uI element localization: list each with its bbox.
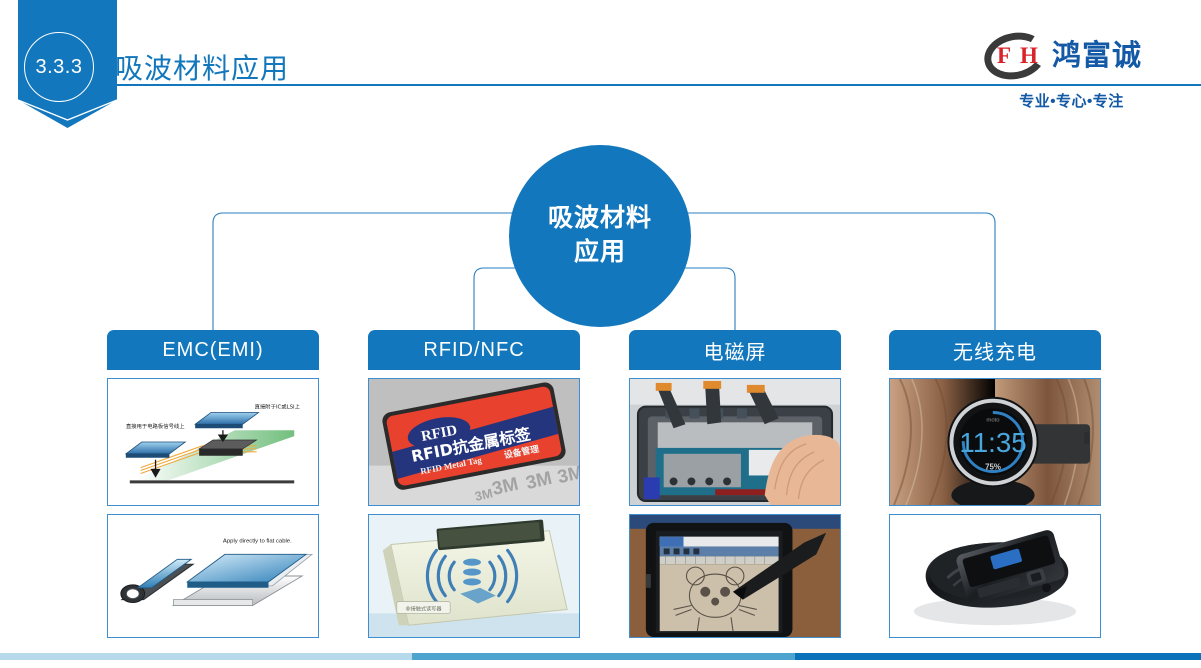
category-label-rfid[interactable]: RFID/NFC (368, 330, 580, 370)
bottom-bar-segment-mid (412, 653, 795, 660)
category-label-emi-shielding[interactable]: 电磁屏 (629, 330, 841, 370)
bottom-bar-segment-dark (795, 653, 1201, 660)
svg-text:Apply directly to flat cable.: Apply directly to flat cable. (223, 539, 292, 545)
bottom-progress-bar (0, 653, 1201, 660)
thumb-stylus-drawing-tablet-photo[interactable] (629, 514, 841, 638)
thumb-flat-cable-absorber-diagram[interactable]: Apply directly to flat cable. (107, 514, 319, 638)
svg-text:75%: 75% (985, 463, 1001, 472)
thumb-pcb-absorber-diagram[interactable]: 直接用于电路板信号线上 直接附于IC或LSI上 (107, 378, 319, 506)
bottom-bar-segment-light (0, 653, 412, 660)
svg-text:11:35: 11:35 (959, 427, 1026, 458)
thumb-nfc-card-reader-photo[interactable]: 非接触式读写器 (368, 514, 580, 638)
category-column-rfid: RFID/NFC 3M 3M 3M 3M RFID RFID抗金属标签 (368, 330, 580, 638)
svg-text:moto: moto (986, 417, 1000, 423)
center-line-1: 吸波材料 (548, 202, 652, 236)
thumb-phone-wireless-charging-pad-photo[interactable] (889, 514, 1101, 638)
category-column-wireless-charging: 无线充电 (889, 330, 1101, 638)
center-node: 吸波材料 应用 (509, 145, 691, 327)
svg-text:直接用于电路板信号线上: 直接用于电路板信号线上 (126, 422, 185, 430)
thumb-smartwatch-wireless-charging-photo[interactable]: moto 11:35 75% (889, 378, 1101, 506)
thumb-rfid-metal-tag-photo[interactable]: 3M 3M 3M 3M RFID RFID抗金属标签 RFID Metal Ta… (368, 378, 580, 506)
category-column-emc: EMC(EMI) (107, 330, 319, 638)
slide: 3.3.3 吸波材料应用 F H 鸿富诚 专业•专心•专注 吸波材料 应用 EM… (0, 0, 1201, 668)
svg-text:直接附于IC或LSI上: 直接附于IC或LSI上 (255, 403, 301, 411)
thumb-tablet-teardown-photo[interactable] (629, 378, 841, 506)
svg-text:非接触式读写器: 非接触式读写器 (405, 604, 441, 612)
center-line-2: 应用 (574, 236, 626, 270)
category-label-wireless-charging[interactable]: 无线充电 (889, 330, 1101, 370)
category-label-emc[interactable]: EMC(EMI) (107, 330, 319, 370)
category-column-emi-shielding: 电磁屏 (629, 330, 841, 638)
